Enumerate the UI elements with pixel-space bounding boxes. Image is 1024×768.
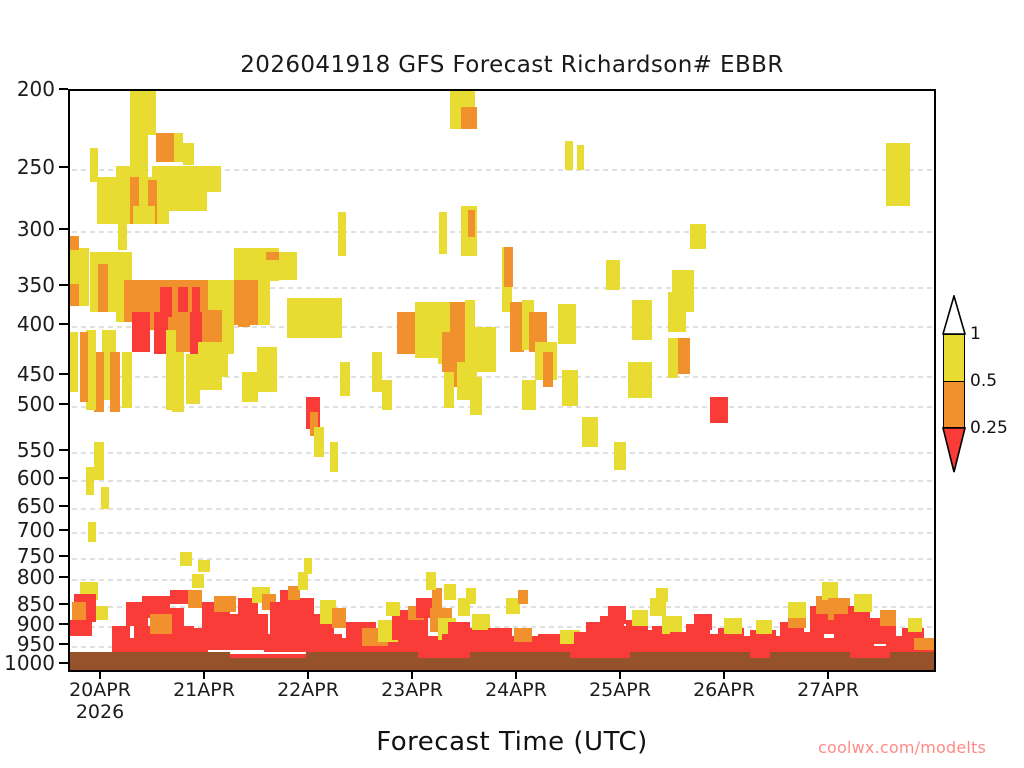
heatmap-cell [183,143,194,165]
x-axis-tick [515,670,517,679]
y-axis-tick [59,323,68,325]
heatmap-cell [756,620,772,634]
heatmap-cell [242,372,258,402]
heatmap-cell [118,224,127,250]
heatmap-cell [558,304,576,344]
heatmap-cell [320,298,330,326]
heatmap-cell [133,206,155,224]
y-axis-label: 850 [0,594,55,614]
heatmap-cell [668,338,678,378]
heatmap-cell [287,298,342,338]
y-axis-label: 650 [0,496,55,516]
heatmap-cell [132,312,150,352]
heatmap-cell [116,166,130,224]
heatmap-cell [174,312,190,352]
heatmap-cell [608,606,626,624]
heatmap-cell [298,572,308,590]
x-axis-label: 26APR [674,680,774,701]
colorbar-cap-top-outline [942,295,968,335]
terrain-segment [470,652,570,658]
heatmap-cell [70,250,79,284]
y-axis-label: 750 [0,546,55,566]
x-axis-tick [723,670,725,679]
y-axis-tick [59,662,68,664]
heatmap-cell [208,280,222,310]
attribution-text: coolwx.com/modelts [818,738,986,757]
heatmap-cell [98,264,108,312]
y-axis-label: 250 [0,157,55,177]
heatmap-cell [522,380,536,410]
chart-root: 2026041918 GFS Forecast Richardson# EBBR… [0,0,1024,768]
plot-area [68,89,936,672]
x-axis-label: 25APR [570,680,670,701]
gridline [70,508,934,510]
y-axis-tick [59,373,68,375]
colorbar-cap-bottom-outline [942,427,968,473]
colorbar-tick-label: 0.25 [970,420,1008,437]
heatmap-cell [632,300,652,340]
heatmap-cell [577,145,584,170]
heatmap-cell [88,522,96,542]
colorbar-tick-label: 0.5 [970,373,997,390]
heatmap-cell [854,594,872,612]
heatmap-cell [668,292,686,332]
x-axis-tick [99,670,101,679]
heatmap-cell [174,133,183,162]
heatmap-cell [338,212,346,256]
heatmap-cell [432,588,442,608]
heatmap-cell [386,602,400,616]
terrain-segment [770,652,850,658]
y-axis-label: 350 [0,275,55,295]
heatmap-cell [606,260,620,290]
terrain-segment [890,652,934,658]
terrain-segment [306,652,418,658]
heatmap-cell [188,590,202,608]
heatmap-cell [258,280,270,325]
y-axis-tick [59,643,68,645]
heatmap-cell [156,133,174,162]
heatmap-cell [468,210,475,237]
heatmap-cell [194,628,264,650]
heatmap-cell [880,610,896,626]
y-axis-tick [59,477,68,479]
y-axis-tick [59,449,68,451]
x-axis-label: 22APR [258,680,358,701]
x-axis-label: 23APR [362,680,462,701]
heatmap-cell [565,141,573,170]
y-axis-label: 1000 [0,653,55,673]
heatmap-cell [86,467,94,495]
colorbar: 10.50.25 [941,296,1024,476]
heatmap-cell [170,590,190,604]
heatmap-cell [504,247,513,287]
heatmap-cell [444,584,456,600]
heatmap-cell [372,352,382,392]
y-axis-tick [59,529,68,531]
heatmap-cell [330,442,338,472]
heatmap-cell [80,332,88,402]
heatmap-cell [110,352,120,412]
heatmap-cell [543,352,553,387]
y-axis-tick [59,228,68,230]
heatmap-cell [304,558,312,574]
heatmap-cell [444,372,454,408]
y-axis-label: 450 [0,364,55,384]
colorbar-segment-orange [943,381,965,428]
x-axis-tick [827,670,829,679]
colorbar-segment-yellow [943,334,965,381]
heatmap-cell [70,620,92,636]
x-axis-tick [203,670,205,679]
heatmap-cell [656,588,668,602]
x-axis-tick [307,670,309,679]
heatmap-cell [710,397,728,423]
y-axis-tick [59,555,68,557]
terrain-segment [70,652,230,658]
heatmap-cell [192,574,204,588]
y-axis-tick [59,403,68,405]
heatmap-cell [582,417,598,447]
y-axis-label: 400 [0,314,55,334]
heatmap-cell [470,377,482,415]
gridline [70,406,934,408]
heatmap-cell [426,572,436,590]
heatmap-cell [690,224,706,249]
heatmap-cell [94,442,104,480]
y-axis-tick [59,576,68,578]
terrain-segment [70,658,934,670]
heatmap-canvas [70,91,934,670]
heatmap-cell [180,552,192,566]
y-axis-label: 300 [0,219,55,239]
heatmap-cell [124,280,132,322]
y-axis-label: 200 [0,79,55,99]
y-axis-tick [59,284,68,286]
heatmap-cell [207,166,221,192]
heatmap-cell [214,342,228,377]
heatmap-cell [461,107,477,129]
heatmap-cell [788,602,806,618]
colorbar-tick-label: 1 [970,326,981,343]
y-axis-tick [59,603,68,605]
y-axis-label: 550 [0,440,55,460]
heatmap-cell [130,91,156,135]
heatmap-cell [238,287,250,327]
heatmap-cell [628,362,652,398]
page-title: 2026041918 GFS Forecast Richardson# EBBR [0,52,1024,78]
heatmap-cell [518,590,528,604]
heatmap-cell [724,618,742,634]
heatmap-cell [101,487,109,509]
heatmap-cell [172,352,184,412]
heatmap-cell [279,252,297,280]
heatmap-cell [514,628,532,642]
gridline [70,532,934,534]
gridline [70,480,934,482]
y-axis-label: 900 [0,614,55,634]
heatmap-cell [382,380,392,410]
y-axis-label: 700 [0,520,55,540]
heatmap-cell [122,352,132,408]
y-axis-label: 800 [0,567,55,587]
heatmap-cell [886,143,910,206]
heatmap-cell [466,588,476,604]
x-axis-year-label: 2026 [50,702,150,723]
heatmap-cell [562,370,578,406]
heatmap-cell [908,618,922,632]
heatmap-cell [169,166,207,211]
x-axis-label: 24APR [466,680,566,701]
heatmap-cell [257,347,277,392]
heatmap-cell [632,610,648,626]
y-axis-tick [59,166,68,168]
heatmap-cell [150,614,172,634]
x-axis-tick [411,670,413,679]
heatmap-cell [340,362,350,396]
heatmap-cell [256,260,280,280]
y-axis-tick [59,88,68,90]
heatmap-cell [694,614,712,630]
x-axis-label: 27APR [778,680,878,701]
y-axis-tick [59,623,68,625]
heatmap-cell [79,248,89,306]
x-axis-label: 20APR [50,680,150,701]
y-axis-label: 600 [0,468,55,488]
terrain-segment [630,652,750,658]
gridline [70,231,934,233]
x-axis-label: 21APR [154,680,254,701]
heatmap-cell [314,427,324,457]
heatmap-cell [264,634,342,652]
heatmap-cell [332,608,346,628]
heatmap-cell [130,135,148,177]
gridline [70,452,934,454]
heatmap-cell [614,442,626,470]
y-axis-label: 500 [0,394,55,414]
heatmap-cell [465,300,475,370]
heatmap-cell [96,606,108,620]
y-axis-tick [59,505,68,507]
heatmap-cell [439,212,447,254]
heatmap-cell [198,560,210,572]
x-axis-tick [619,670,621,679]
heatmap-cell [72,602,86,622]
heatmap-cell [70,332,78,392]
heatmap-cell [108,264,116,306]
heatmap-cell [214,596,236,612]
